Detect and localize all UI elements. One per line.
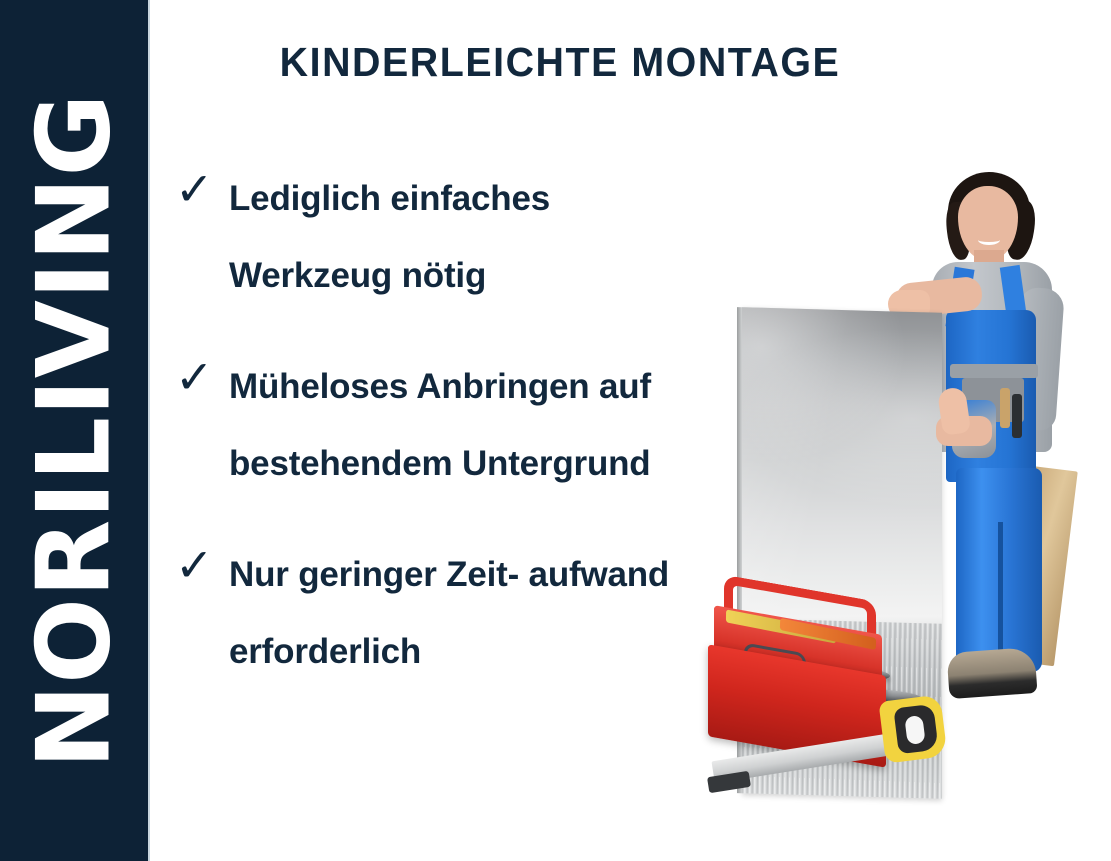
check-icon: ✓ — [175, 354, 229, 400]
page-title: KINDERLEICHTE MONTAGE — [205, 40, 915, 85]
pouch-tool-wood — [1000, 388, 1010, 428]
sidebar-divider — [148, 0, 150, 861]
list-item-label: Müheloses Anbringen auf bestehendem Unte… — [229, 348, 695, 502]
product-photo — [700, 150, 1111, 861]
worker-shoe — [947, 647, 1038, 699]
pouch-tool-dark — [1012, 394, 1022, 438]
promo-banner: NORILIVING KINDERLEICHTE MONTAGE ✓ Ledig… — [0, 0, 1111, 861]
list-item-label: Nur geringer Zeit- aufwand erforderlich — [229, 536, 695, 690]
brand-sidebar: NORILIVING — [0, 0, 148, 861]
list-item: ✓ Nur geringer Zeit- aufwand erforderlic… — [175, 536, 695, 690]
check-icon: ✓ — [175, 542, 229, 588]
list-item: ✓ Lediglich einfaches Werkzeug nötig — [175, 160, 695, 314]
list-item-label: Lediglich einfaches Werkzeug nötig — [229, 160, 695, 314]
brand-name: NORILIVING — [24, 93, 125, 769]
worker-smile — [978, 235, 1000, 245]
tool-belt — [950, 364, 1038, 378]
check-icon: ✓ — [175, 166, 229, 212]
list-item: ✓ Müheloses Anbringen auf bestehendem Un… — [175, 348, 695, 502]
feature-list: ✓ Lediglich einfaches Werkzeug nötig ✓ M… — [175, 160, 695, 690]
